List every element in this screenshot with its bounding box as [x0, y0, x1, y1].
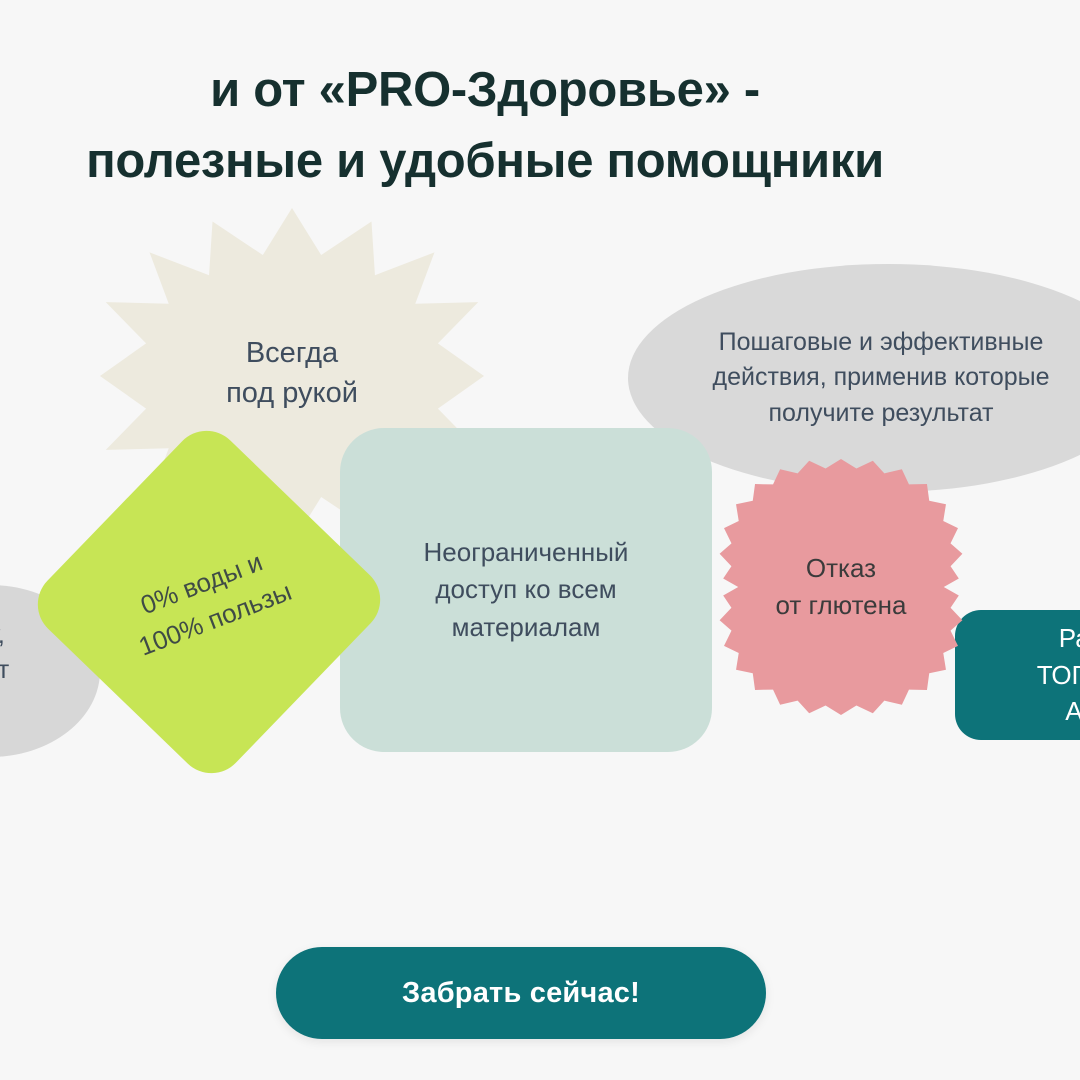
benefit-shape-authors: Разраб ТОП-нутри Акаде — [955, 610, 1080, 740]
benefit-text-always-at-hand: Всегда под рукой — [226, 333, 358, 419]
page-title-line-2: полезные и удобные помощники — [0, 126, 1080, 198]
benefit-text-unlimited-access: Неограниченный доступ ко всем материалам — [424, 534, 629, 646]
cta-button[interactable]: Забрать сейчас! — [276, 947, 766, 1039]
page-title: и от «PRO-Здоровье» - полезные и удобные… — [0, 55, 1080, 198]
benefit-text-gluten-free: Отказ от глютена — [776, 550, 907, 624]
slide-canvas: и от «PRO-Здоровье» - полезные и удобные… — [0, 0, 1080, 1080]
benefit-shape-gluten-free: Отказ от глютена — [713, 459, 969, 715]
benefit-shape-zero-water: 0% воды и 100% пользы — [78, 471, 340, 733]
benefit-shape-unlimited-access: Неограниченный доступ ко всем материалам — [340, 428, 712, 752]
benefit-text-steps: Пошаговые и эффективные действия, примен… — [641, 325, 1080, 432]
benefit-text-authors: Разраб ТОП-нутри Акаде — [989, 620, 1080, 731]
page-title-line-1: и от «PRO-Здоровье» - — [210, 63, 760, 117]
